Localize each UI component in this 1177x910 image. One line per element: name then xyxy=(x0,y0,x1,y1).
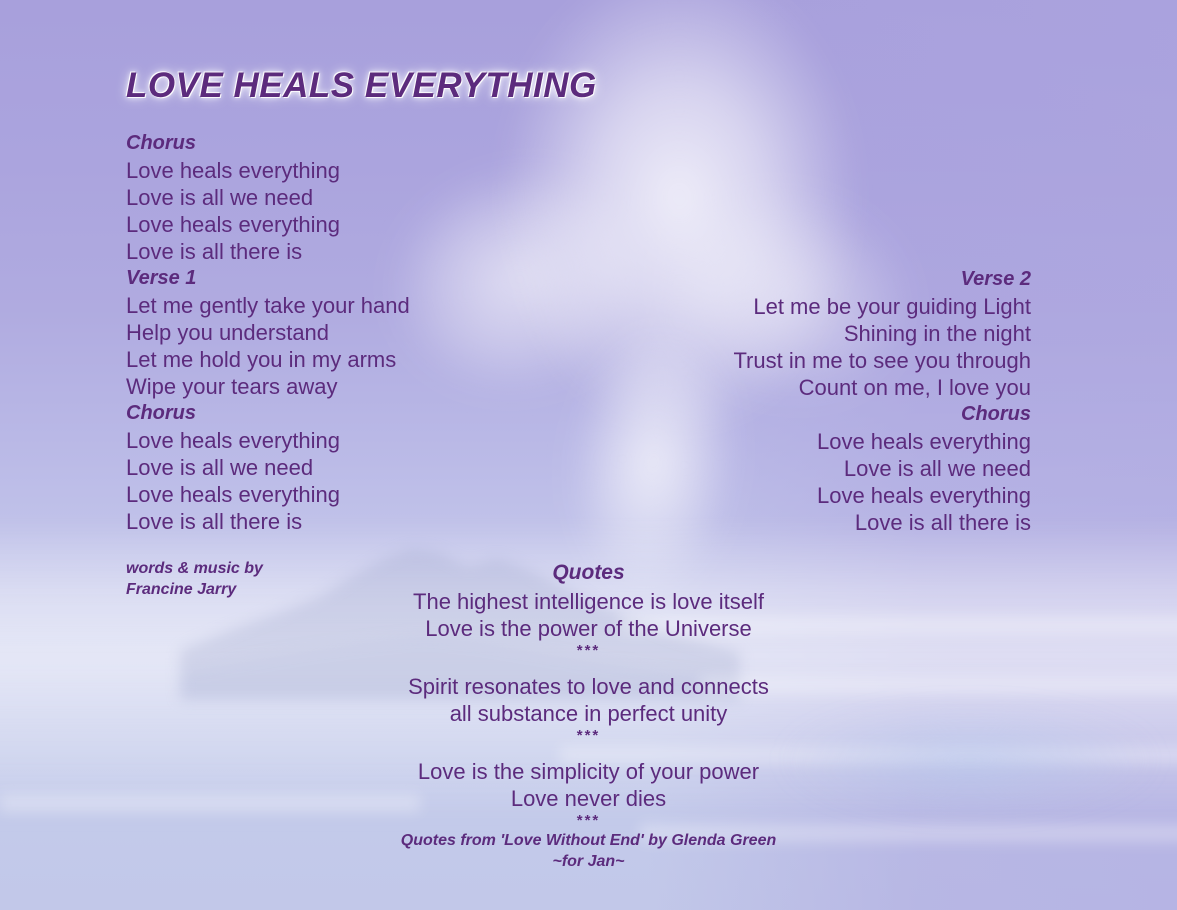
lyric-line: Love heals everything xyxy=(126,427,410,454)
left-lyrics-column: ChorusLove heals everythingLove is all w… xyxy=(126,130,410,535)
right-section-heading: Chorus xyxy=(733,401,1031,428)
left-section-heading: Chorus xyxy=(126,130,410,157)
lyric-line: Love is all we need xyxy=(733,455,1031,482)
quote-line: Love is the simplicity of your power xyxy=(0,758,1177,785)
quote-line: all substance in perfect unity xyxy=(0,700,1177,727)
lyric-line: Let me gently take your hand xyxy=(126,292,410,319)
lyric-line: Let me be your guiding Light xyxy=(733,293,1031,320)
quote-line: The highest intelligence is love itself xyxy=(0,588,1177,615)
poster-content: LOVE HEALS EVERYTHING ChorusLove heals e… xyxy=(0,0,1177,910)
lyric-line: Love heals everything xyxy=(733,482,1031,509)
lyric-line: Help you understand xyxy=(126,319,410,346)
quote-separator: *** xyxy=(0,812,1177,830)
right-section-heading: Verse 2 xyxy=(733,266,1031,293)
right-lyrics-column: Verse 2Let me be your guiding LightShini… xyxy=(733,266,1031,536)
quote-spacer xyxy=(0,660,1177,673)
lyric-line: Wipe your tears away xyxy=(126,373,410,400)
lyric-line: Love is all there is xyxy=(126,238,410,265)
quote-line: Love is the power of the Universe xyxy=(0,615,1177,642)
lyric-line: Love is all we need xyxy=(126,184,410,211)
lyric-line: Trust in me to see you through xyxy=(733,347,1031,374)
quote-line: Love never dies xyxy=(0,785,1177,812)
quote-separator: *** xyxy=(0,642,1177,660)
lyric-line: Shining in the night xyxy=(733,320,1031,347)
quote-line: Spirit resonates to love and connects xyxy=(0,673,1177,700)
quotes-body: The highest intelligence is love itselfL… xyxy=(0,588,1177,830)
lyric-line: Love is all there is xyxy=(126,508,410,535)
quotes-heading: Quotes xyxy=(0,560,1177,586)
lyric-line: Let me hold you in my arms xyxy=(126,346,410,373)
lyric-line: Love is all there is xyxy=(733,509,1031,536)
quotes-dedication: ~for Jan~ xyxy=(0,851,1177,872)
left-section-heading: Verse 1 xyxy=(126,265,410,292)
lyric-line: Love is all we need xyxy=(126,454,410,481)
quote-spacer xyxy=(0,745,1177,758)
lyric-line: Count on me, I love you xyxy=(733,374,1031,401)
quotes-attribution: Quotes from 'Love Without End' by Glenda… xyxy=(0,830,1177,851)
left-section-heading: Chorus xyxy=(126,400,410,427)
lyric-line: Love heals everything xyxy=(126,481,410,508)
lyric-line: Love heals everything xyxy=(126,211,410,238)
lyric-line: Love heals everything xyxy=(733,428,1031,455)
page-title: LOVE HEALS EVERYTHING xyxy=(126,66,597,106)
quotes-section: Quotes The highest intelligence is love … xyxy=(0,560,1177,872)
quote-separator: *** xyxy=(0,727,1177,745)
lyrics-poster: LOVE HEALS EVERYTHING ChorusLove heals e… xyxy=(0,0,1177,910)
lyric-line: Love heals everything xyxy=(126,157,410,184)
